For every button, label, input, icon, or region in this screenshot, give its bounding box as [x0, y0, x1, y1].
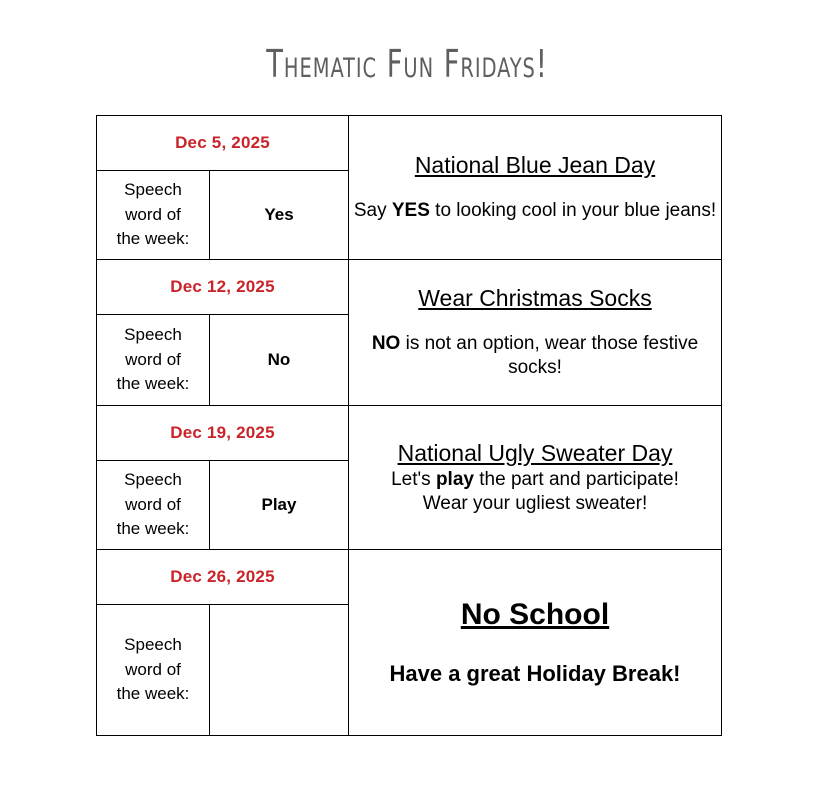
word-of-week-label-1: Speech word of the week: — [97, 171, 210, 260]
word-label-line-1: Speech — [124, 470, 182, 489]
word-of-week-label-3: Speech word of the week: — [97, 461, 210, 550]
page-title: Thematic Fun Fridays! — [81, 44, 732, 86]
detail-cell-week-4: No School Have a great Holiday Break! — [349, 550, 722, 736]
bold-term-yes: YES — [392, 200, 430, 221]
word-of-week-label-2: Speech word of the week: — [97, 315, 210, 406]
event-body-week-4: Have a great Holiday Break! — [349, 660, 721, 689]
word-label-line-1: Speech — [124, 180, 182, 199]
event-body-week-3: Let's play the part and participate!Wear… — [349, 468, 721, 516]
event-heading-week-3: National Ugly Sweater Day — [349, 439, 721, 468]
detail-cell-week-2: Wear Christmas Socks NO is not an option… — [349, 260, 722, 406]
word-label-line-1: Speech — [124, 635, 182, 654]
word-value-week-2: No — [210, 315, 349, 406]
word-label-line-2: word of — [125, 350, 181, 369]
word-label-line-2: word of — [125, 495, 181, 514]
detail-cell-week-3: National Ugly Sweater Day Let's play the… — [349, 406, 722, 550]
word-label-line-3: the week: — [117, 519, 190, 538]
table-row: Dec 12, 2025 Wear Christmas Socks NO is … — [97, 260, 722, 315]
word-label-line-3: the week: — [117, 374, 190, 393]
word-label-line-3: the week: — [117, 229, 190, 248]
table-row: Dec 19, 2025 National Ugly Sweater Day L… — [97, 406, 722, 461]
event-body-week-2: NO is not an option, wear those festive … — [349, 332, 721, 381]
bold-term-no: NO — [372, 333, 401, 354]
date-cell-week-4: Dec 26, 2025 — [97, 550, 349, 605]
thematic-fun-fridays-table: Dec 5, 2025 National Blue Jean Day Say Y… — [96, 115, 722, 736]
event-heading-week-1: National Blue Jean Day — [349, 151, 721, 180]
detail-cell-week-1: National Blue Jean Day Say YES to lookin… — [349, 116, 722, 260]
date-cell-week-3: Dec 19, 2025 — [97, 406, 349, 461]
table-row: Dec 5, 2025 National Blue Jean Day Say Y… — [97, 116, 722, 171]
event-body-week-1: Say YES to looking cool in your blue jea… — [349, 199, 721, 224]
event-heading-week-2: Wear Christmas Socks — [349, 284, 721, 313]
word-label-line-2: word of — [125, 660, 181, 679]
event-heading-week-4: No School — [349, 596, 721, 634]
page-root: Thematic Fun Fridays! Dec 5, 2025 Nation… — [0, 0, 814, 789]
date-cell-week-2: Dec 12, 2025 — [97, 260, 349, 315]
word-label-line-1: Speech — [124, 325, 182, 344]
word-value-week-4 — [210, 605, 349, 736]
table-row: Dec 26, 2025 No School Have a great Holi… — [97, 550, 722, 605]
word-value-week-3: Play — [210, 461, 349, 550]
word-value-week-1: Yes — [210, 171, 349, 260]
word-label-line-3: the week: — [117, 684, 190, 703]
date-cell-week-1: Dec 5, 2025 — [97, 116, 349, 171]
bold-term-play: play — [436, 469, 474, 490]
word-label-line-2: word of — [125, 205, 181, 224]
word-of-week-label-4: Speech word of the week: — [97, 605, 210, 736]
